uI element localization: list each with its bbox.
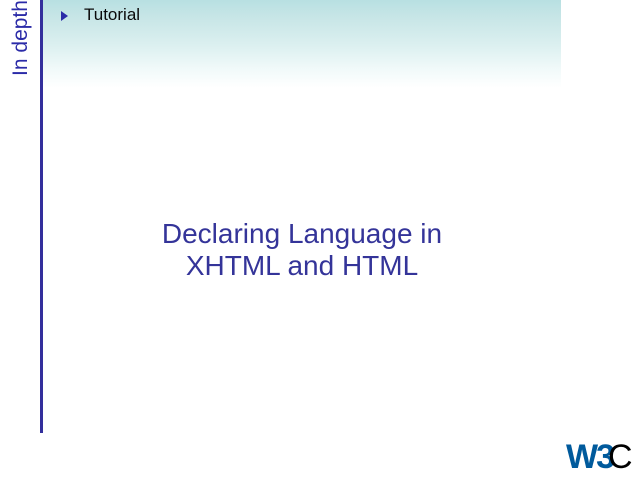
header-label: Tutorial (84, 5, 140, 25)
page-title-line-2: XHTML and HTML (43, 250, 561, 282)
page-title: Declaring Language in XHTML and HTML (43, 218, 561, 282)
page-title-line-1: Declaring Language in (43, 218, 561, 250)
section-label: In depth (8, 0, 34, 88)
svg-text:W3: W3 (566, 438, 614, 476)
triangle-right-icon (61, 11, 68, 21)
w3c-logo: W3 C (566, 436, 636, 476)
svg-text:C: C (608, 438, 633, 476)
slide-canvas: In depth Tutorial Declaring Language in … (0, 0, 640, 480)
